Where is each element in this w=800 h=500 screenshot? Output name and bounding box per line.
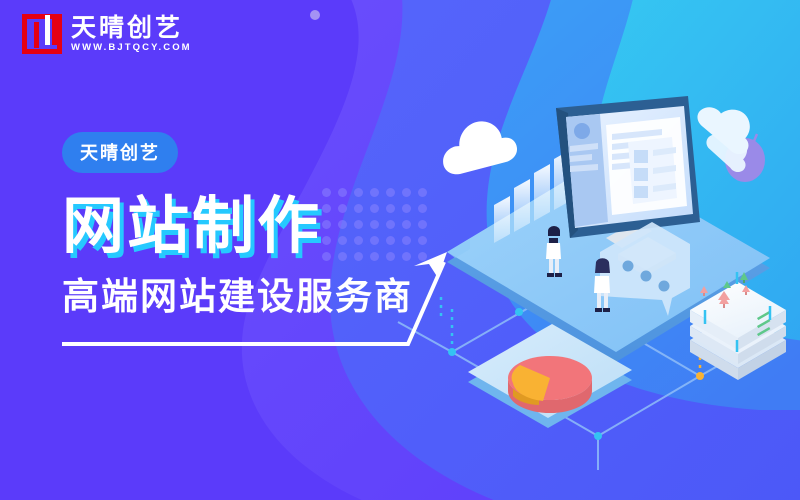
- logo-text-group: 天晴创艺 WWW.BJTQCY.COM: [71, 16, 192, 54]
- headline-text: 网站制作: [62, 195, 413, 259]
- brand-logo[interactable]: 天晴创艺 WWW.BJTQCY.COM: [22, 14, 192, 54]
- brand-badge: 天晴创艺: [62, 132, 178, 173]
- logo-website-url: WWW.BJTQCY.COM: [71, 43, 192, 53]
- logo-mark-icon: [22, 14, 62, 54]
- logo-company-name: 天晴创艺: [71, 16, 192, 41]
- promo-banner: 天晴创艺 WWW.BJTQCY.COM: [0, 0, 800, 500]
- copy-block: 天晴创艺 网站制作 高端网站建设服务商: [62, 132, 413, 317]
- subtitle-text: 高端网站建设服务商: [62, 277, 413, 317]
